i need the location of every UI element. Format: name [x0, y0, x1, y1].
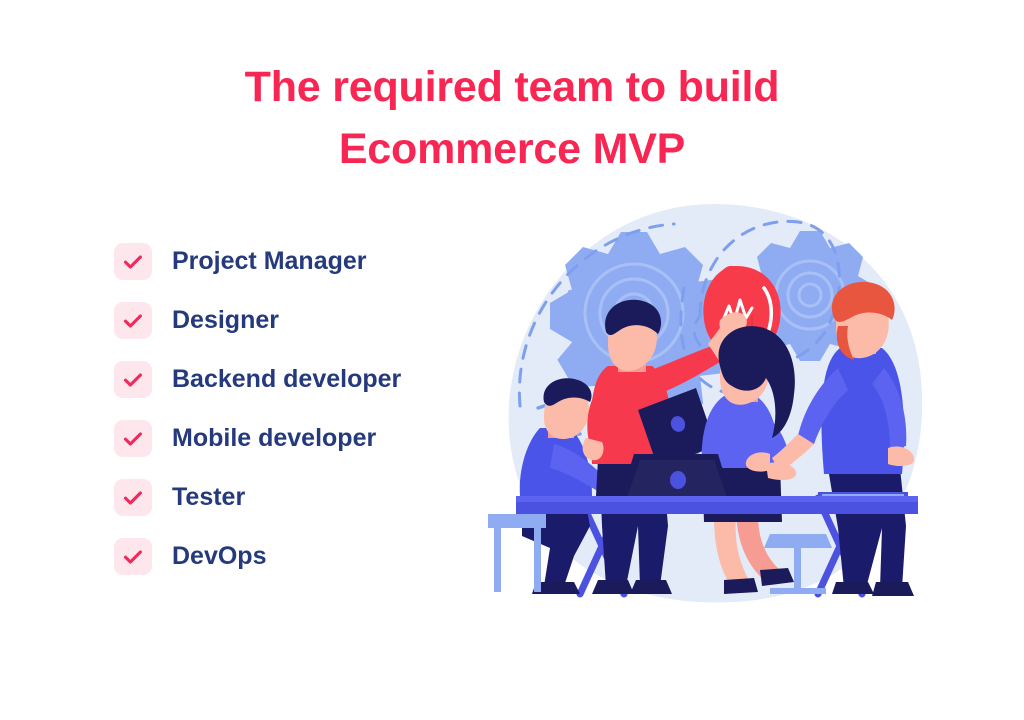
list-item-label: Tester: [172, 485, 245, 510]
check-icon[interactable]: [114, 538, 152, 575]
check-icon[interactable]: [114, 479, 152, 516]
check-icon[interactable]: [114, 420, 152, 457]
check-icon[interactable]: [114, 302, 152, 339]
poster-canvas: The required team to build Ecommerce MVP…: [0, 0, 1024, 720]
list-item-label: Project Manager: [172, 249, 367, 274]
woman-shoe-1: [724, 578, 758, 594]
right-person-shoe-2: [872, 582, 914, 596]
list-item-label: DevOps: [172, 544, 266, 569]
stool-left: [488, 514, 546, 592]
list-item[interactable]: Project Manager: [114, 243, 494, 280]
list-item-label: Designer: [172, 308, 279, 333]
page-title-line-2: Ecommerce MVP: [0, 118, 1024, 180]
list-item[interactable]: DevOps: [114, 538, 494, 575]
list-item-label: Mobile developer: [172, 426, 376, 451]
page-title: The required team to build Ecommerce MVP: [0, 56, 1024, 181]
team-collaboration-illustration: [488, 196, 940, 628]
red-person-shoe-2: [630, 580, 672, 594]
table-top-edge: [516, 496, 918, 502]
list-item[interactable]: Backend developer: [114, 361, 494, 398]
list-item[interactable]: Designer: [114, 302, 494, 339]
list-item-label: Backend developer: [172, 367, 401, 392]
team-roles-checklist: Project Manager Designer Backend develop…: [114, 243, 494, 597]
list-item[interactable]: Tester: [114, 479, 494, 516]
check-icon[interactable]: [114, 361, 152, 398]
check-icon[interactable]: [114, 243, 152, 280]
right-person-shoe-1: [832, 582, 874, 594]
red-person-shoe-1: [592, 580, 634, 594]
page-title-line-1: The required team to build: [0, 56, 1024, 118]
list-item[interactable]: Mobile developer: [114, 420, 494, 457]
